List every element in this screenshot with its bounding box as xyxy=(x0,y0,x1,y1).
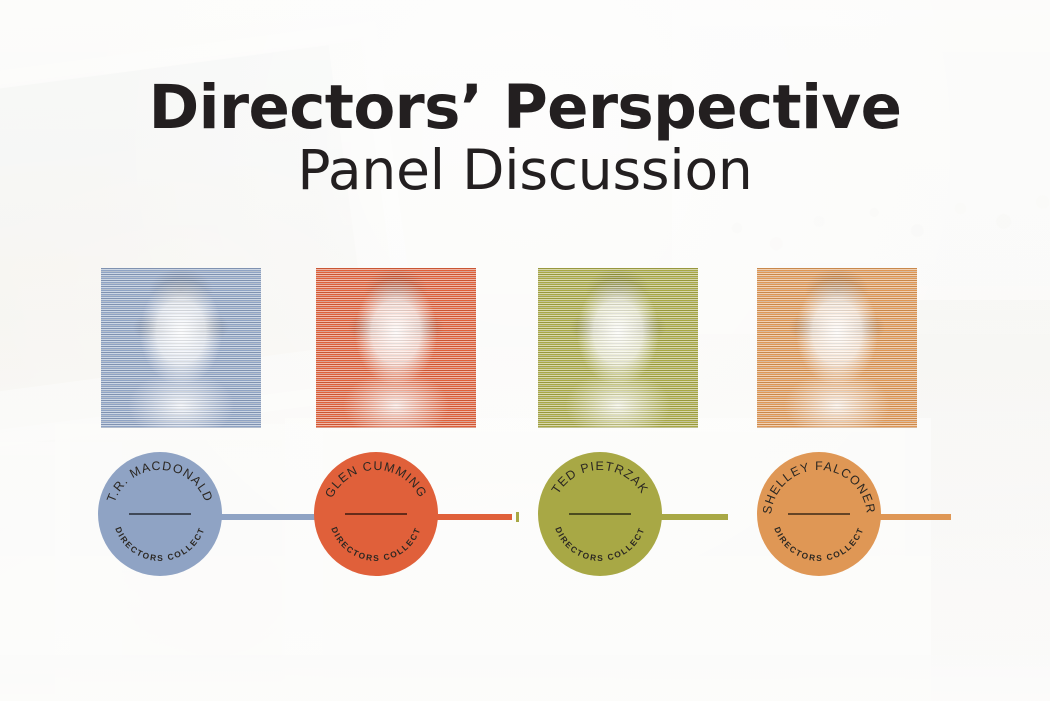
page-subtitle: Panel Discussion xyxy=(0,141,1050,200)
badge-subtitle-ted-pietrzak: DIRECTORS COLLECT xyxy=(553,525,646,563)
panelist-badge-glen-cumming[interactable]: GLEN CUMMINGDIRECTORS COLLECT xyxy=(314,452,438,576)
portrait-shelley-falconer xyxy=(757,268,917,428)
connector-tick-glen-cumming xyxy=(516,512,519,522)
badge-subtitle-tr-macdonald: DIRECTORS COLLECT xyxy=(113,525,206,563)
badge-name-glen-cumming: GLEN CUMMING xyxy=(322,459,430,500)
panelist-badge-shelley-falconer[interactable]: SHELLEY FALCONERDIRECTORS COLLECT xyxy=(757,452,881,576)
portrait-halftone-shadow xyxy=(757,268,917,428)
badge-divider-rule xyxy=(788,513,850,515)
badge-subtitle-shelley-falconer: DIRECTORS COLLECT xyxy=(772,525,865,563)
portrait-tr-macdonald xyxy=(101,268,261,428)
portrait-glen-cumming xyxy=(316,268,476,428)
badge-name-ted-pietrzak: TED PIETRZAK xyxy=(549,459,652,496)
slide-canvas: Directors’ Perspective Panel Discussion … xyxy=(0,0,1050,701)
portrait-halftone-shadow xyxy=(538,268,698,428)
connector-line-glen-cumming xyxy=(426,514,512,520)
connector-line-tr-macdonald xyxy=(210,514,326,520)
portrait-row xyxy=(0,268,1050,432)
panelist-badge-row: T.R. MACDONALDDIRECTORS COLLECTGLEN CUMM… xyxy=(0,440,1050,590)
badge-name-shelley-falconer: SHELLEY FALCONER xyxy=(760,459,878,515)
portrait-halftone-shadow xyxy=(101,268,261,428)
badge-name-tr-macdonald: T.R. MACDONALD xyxy=(104,459,216,504)
title-block: Directors’ Perspective Panel Discussion xyxy=(0,76,1050,201)
panelist-badge-ted-pietrzak[interactable]: TED PIETRZAKDIRECTORS COLLECT xyxy=(538,452,662,576)
portrait-halftone-shadow xyxy=(316,268,476,428)
portrait-ted-pietrzak xyxy=(538,268,698,428)
page-title: Directors’ Perspective xyxy=(0,76,1050,139)
badge-subtitle-glen-cumming: DIRECTORS COLLECT xyxy=(329,525,422,563)
connector-line-shelley-falconer xyxy=(869,514,951,520)
badge-divider-rule xyxy=(569,513,631,515)
badge-divider-rule xyxy=(129,513,191,515)
badge-divider-rule xyxy=(345,513,407,515)
panelist-badge-tr-macdonald[interactable]: T.R. MACDONALDDIRECTORS COLLECT xyxy=(98,452,222,576)
